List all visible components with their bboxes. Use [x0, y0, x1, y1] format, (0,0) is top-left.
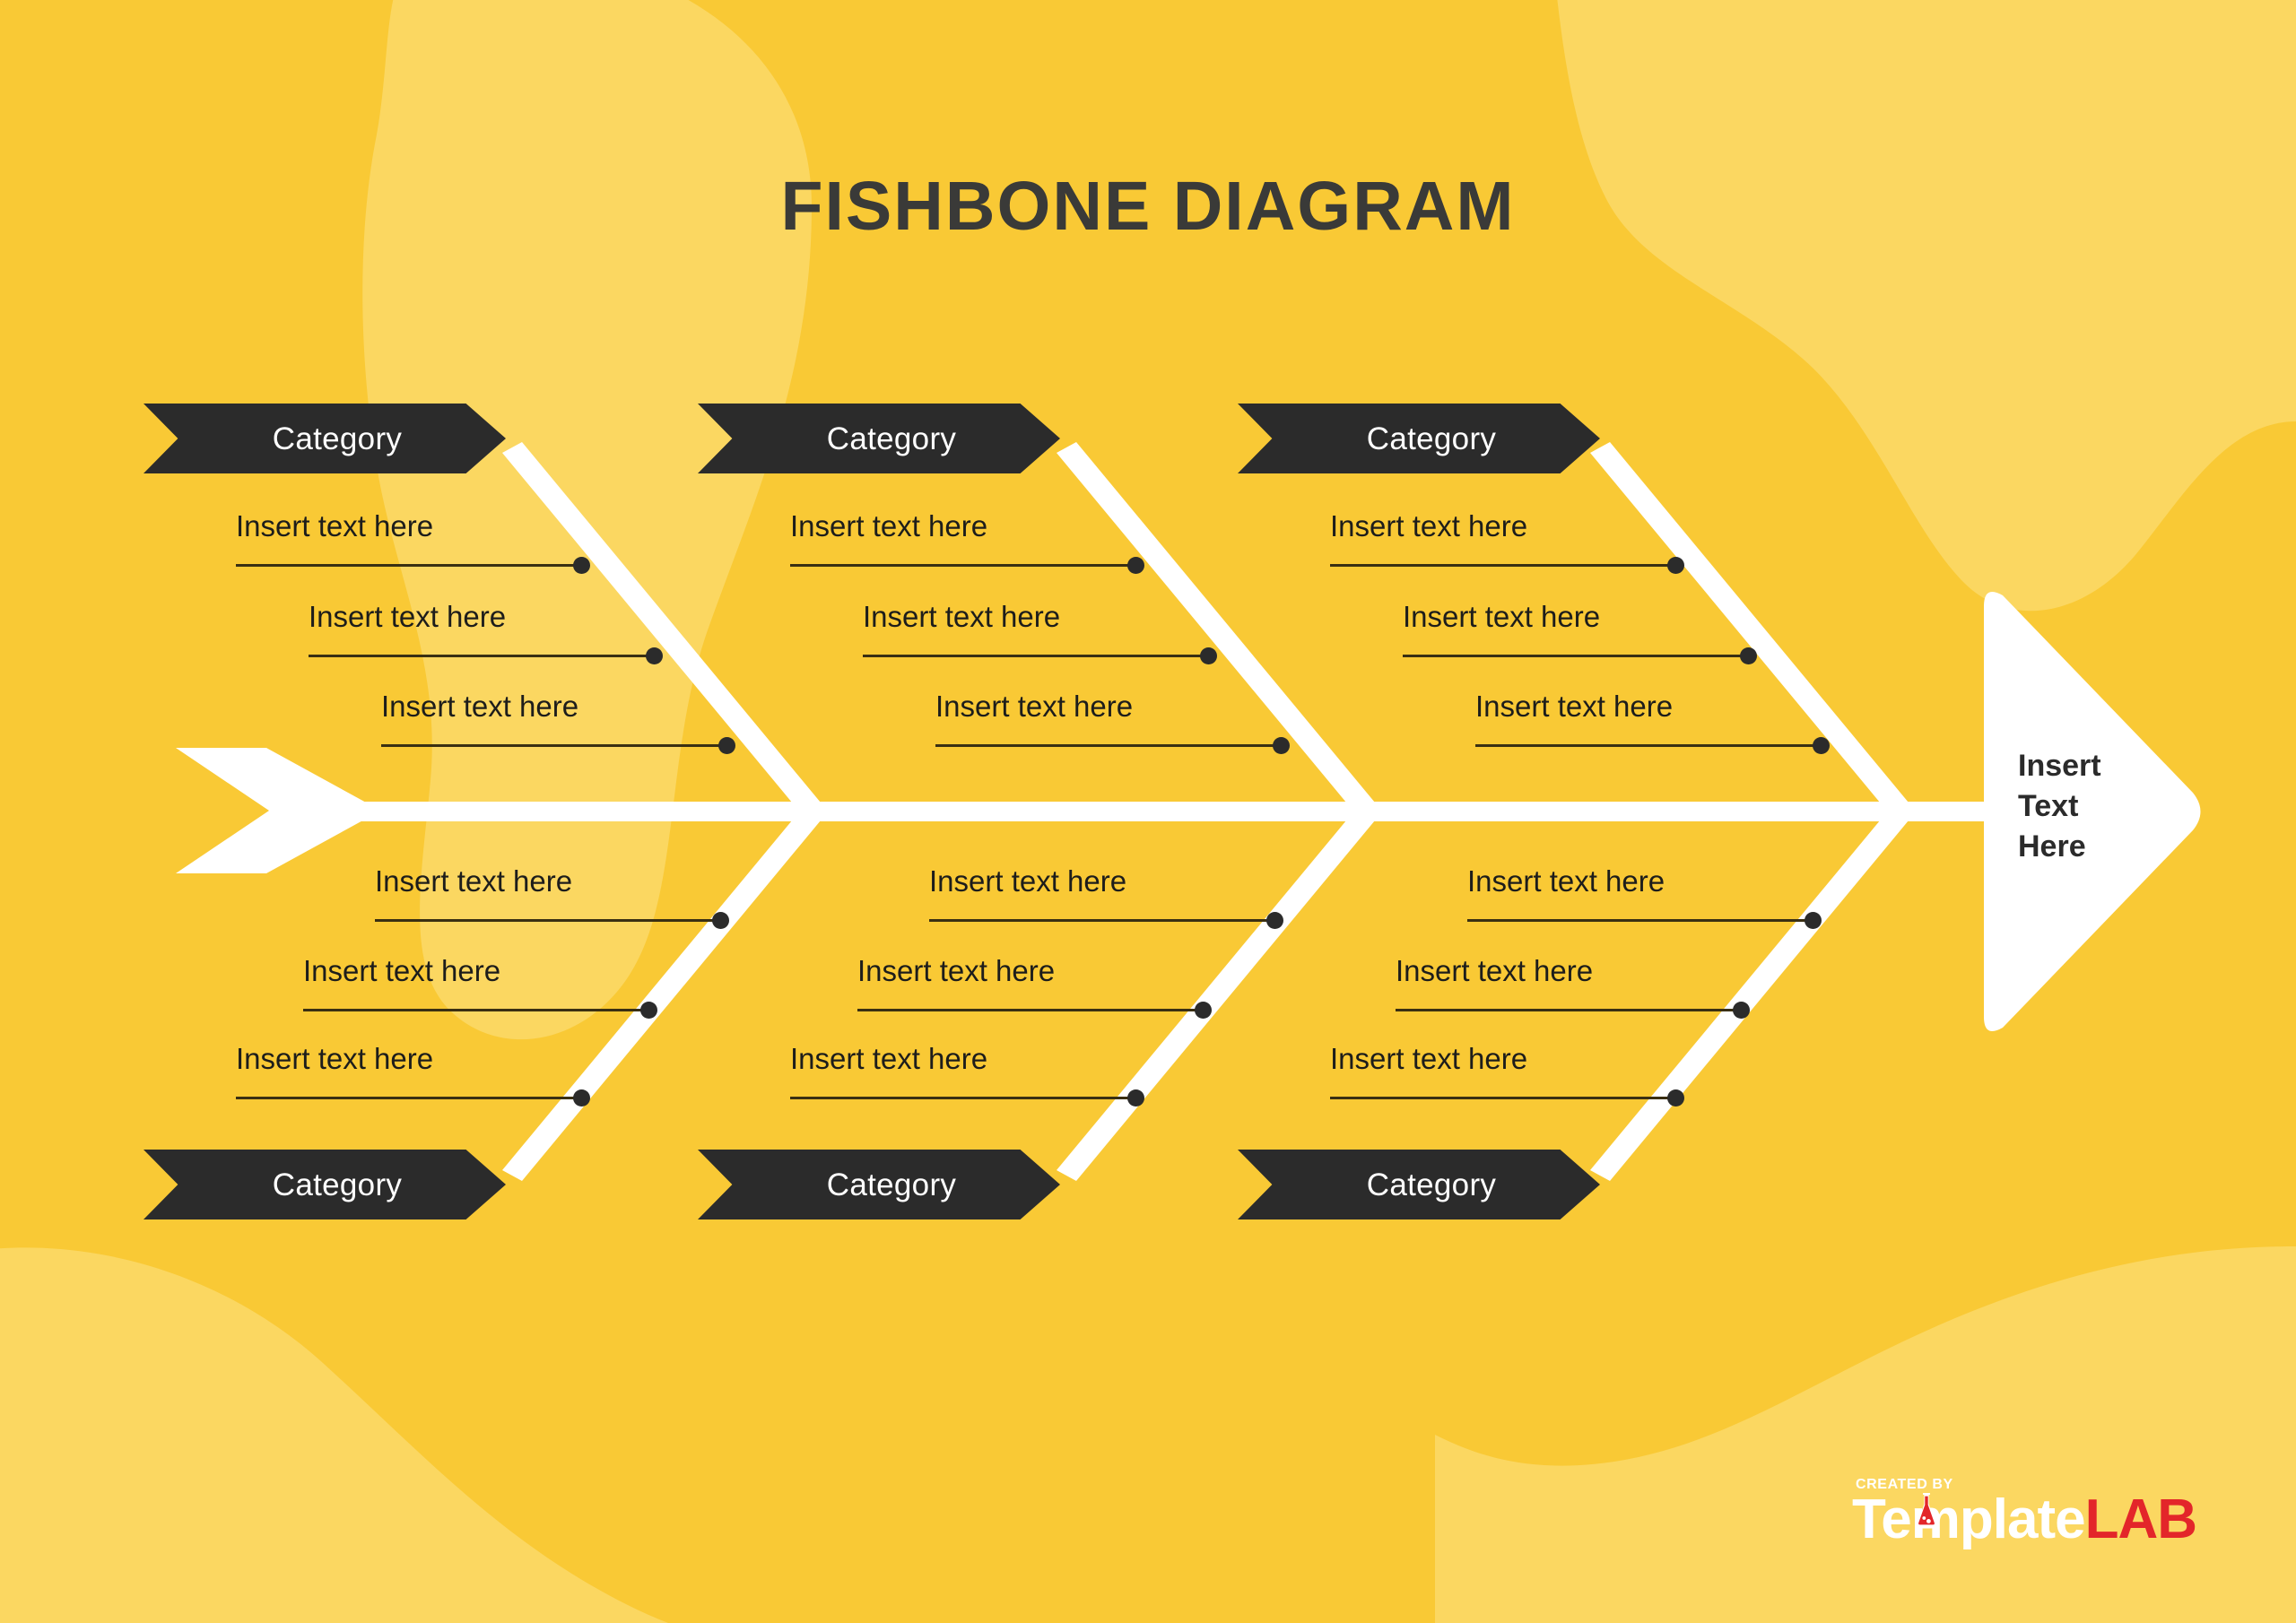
cause-endpoint-dot — [718, 737, 735, 754]
cause-item-bottom-1-3[interactable]: Insert text here — [236, 1044, 581, 1099]
templatelab-logo[interactable]: CREATED BY TemplateLAB — [1852, 1478, 2193, 1560]
logo-template-text: Template — [1852, 1488, 2085, 1550]
cause-rule — [1403, 655, 1748, 657]
category-label: Category — [827, 423, 956, 455]
cause-rule — [1475, 744, 1821, 747]
category-label: Category — [273, 1169, 402, 1201]
cause-text: Insert text here — [309, 602, 506, 631]
cause-rule — [929, 919, 1274, 922]
cause-endpoint-dot — [1200, 647, 1217, 664]
cause-rule — [790, 564, 1135, 567]
cause-rule — [375, 919, 720, 922]
cause-text: Insert text here — [857, 956, 1055, 985]
cause-item-bottom-2-1[interactable]: Insert text here — [929, 866, 1274, 922]
page-title: FISHBONE DIAGRAM — [0, 172, 2296, 241]
fish-head-line-2: Text — [2018, 786, 2179, 827]
category-ribbon-top-1[interactable]: Category — [143, 404, 506, 473]
cause-item-top-1-2[interactable]: Insert text here — [309, 602, 654, 657]
cause-text: Insert text here — [1330, 511, 1527, 541]
cause-endpoint-dot — [646, 647, 663, 664]
cause-item-top-3-2[interactable]: Insert text here — [1403, 602, 1748, 657]
cause-item-bottom-1-1[interactable]: Insert text here — [375, 866, 720, 922]
cause-text: Insert text here — [790, 511, 987, 541]
cause-text: Insert text here — [863, 602, 1060, 631]
cause-text: Insert text here — [1330, 1044, 1527, 1073]
logo-wordmark: TemplateLAB — [1852, 1492, 2196, 1548]
cause-rule — [857, 1009, 1203, 1011]
cause-endpoint-dot — [712, 912, 729, 929]
cause-text: Insert text here — [1467, 866, 1665, 896]
cause-item-top-1-1[interactable]: Insert text here — [236, 511, 581, 567]
cause-item-bottom-3-2[interactable]: Insert text here — [1396, 956, 1741, 1011]
fish-head-line-3: Here — [2018, 827, 2179, 867]
cause-rule — [303, 1009, 648, 1011]
cause-endpoint-dot — [1195, 1002, 1212, 1019]
category-ribbon-top-2[interactable]: Category — [698, 404, 1060, 473]
cause-text: Insert text here — [790, 1044, 987, 1073]
cause-rule — [790, 1097, 1135, 1099]
cause-text: Insert text here — [1396, 956, 1593, 985]
cause-text: Insert text here — [381, 691, 578, 721]
cause-endpoint-dot — [1127, 557, 1144, 574]
cause-endpoint-dot — [1667, 557, 1684, 574]
cause-rule — [863, 655, 1208, 657]
cause-item-bottom-3-1[interactable]: Insert text here — [1467, 866, 1813, 922]
logo-lab-text: LAB — [2085, 1488, 2196, 1550]
category-ribbon-top-3[interactable]: Category — [1238, 404, 1600, 473]
category-ribbon-bottom-2[interactable]: Category — [698, 1150, 1060, 1219]
cause-item-bottom-2-3[interactable]: Insert text here — [790, 1044, 1135, 1099]
cause-item-top-1-3[interactable]: Insert text here — [381, 691, 726, 747]
category-label: Category — [273, 423, 402, 455]
fishbone-diagram-page: FISHBONE DIAGRAM Category Insert text he… — [0, 0, 2296, 1623]
category-label: Category — [1367, 1169, 1496, 1201]
fish-spine — [357, 802, 2034, 821]
cause-text: Insert text here — [236, 1044, 433, 1073]
cause-endpoint-dot — [1127, 1089, 1144, 1107]
cause-text: Insert text here — [1475, 691, 1673, 721]
cause-item-bottom-1-2[interactable]: Insert text here — [303, 956, 648, 1011]
cause-rule — [1467, 919, 1813, 922]
cause-rule — [309, 655, 654, 657]
fish-head-label[interactable]: Insert Text Here — [2018, 746, 2179, 868]
category-ribbon-bottom-3[interactable]: Category — [1238, 1150, 1600, 1219]
cause-text: Insert text here — [935, 691, 1133, 721]
fish-tail-icon — [176, 748, 368, 873]
flask-icon — [1915, 1491, 1938, 1531]
cause-rule — [1330, 1097, 1675, 1099]
cause-rule — [1396, 1009, 1741, 1011]
cause-endpoint-dot — [573, 1089, 590, 1107]
cause-rule — [1330, 564, 1675, 567]
cause-endpoint-dot — [1273, 737, 1290, 754]
cause-rule — [236, 564, 581, 567]
cause-item-bottom-2-2[interactable]: Insert text here — [857, 956, 1203, 1011]
cause-item-top-2-3[interactable]: Insert text here — [935, 691, 1281, 747]
cause-endpoint-dot — [573, 557, 590, 574]
cause-text: Insert text here — [1403, 602, 1600, 631]
cause-item-top-3-1[interactable]: Insert text here — [1330, 511, 1675, 567]
cause-endpoint-dot — [1813, 737, 1830, 754]
cause-text: Insert text here — [929, 866, 1126, 896]
cause-text: Insert text here — [375, 866, 572, 896]
cause-endpoint-dot — [1266, 912, 1283, 929]
cause-endpoint-dot — [1740, 647, 1757, 664]
cause-endpoint-dot — [640, 1002, 657, 1019]
fish-head-line-1: Insert — [2018, 746, 2179, 786]
cause-endpoint-dot — [1733, 1002, 1750, 1019]
cause-item-top-3-3[interactable]: Insert text here — [1475, 691, 1821, 747]
cause-rule — [381, 744, 726, 747]
cause-item-top-2-1[interactable]: Insert text here — [790, 511, 1135, 567]
category-label: Category — [1367, 423, 1496, 455]
cause-endpoint-dot — [1667, 1089, 1684, 1107]
cause-endpoint-dot — [1805, 912, 1822, 929]
cause-item-top-2-2[interactable]: Insert text here — [863, 602, 1208, 657]
cause-rule — [935, 744, 1281, 747]
cause-item-bottom-3-3[interactable]: Insert text here — [1330, 1044, 1675, 1099]
cause-rule — [236, 1097, 581, 1099]
category-label: Category — [827, 1169, 956, 1201]
cause-text: Insert text here — [303, 956, 500, 985]
category-ribbon-bottom-1[interactable]: Category — [143, 1150, 506, 1219]
cause-text: Insert text here — [236, 511, 433, 541]
